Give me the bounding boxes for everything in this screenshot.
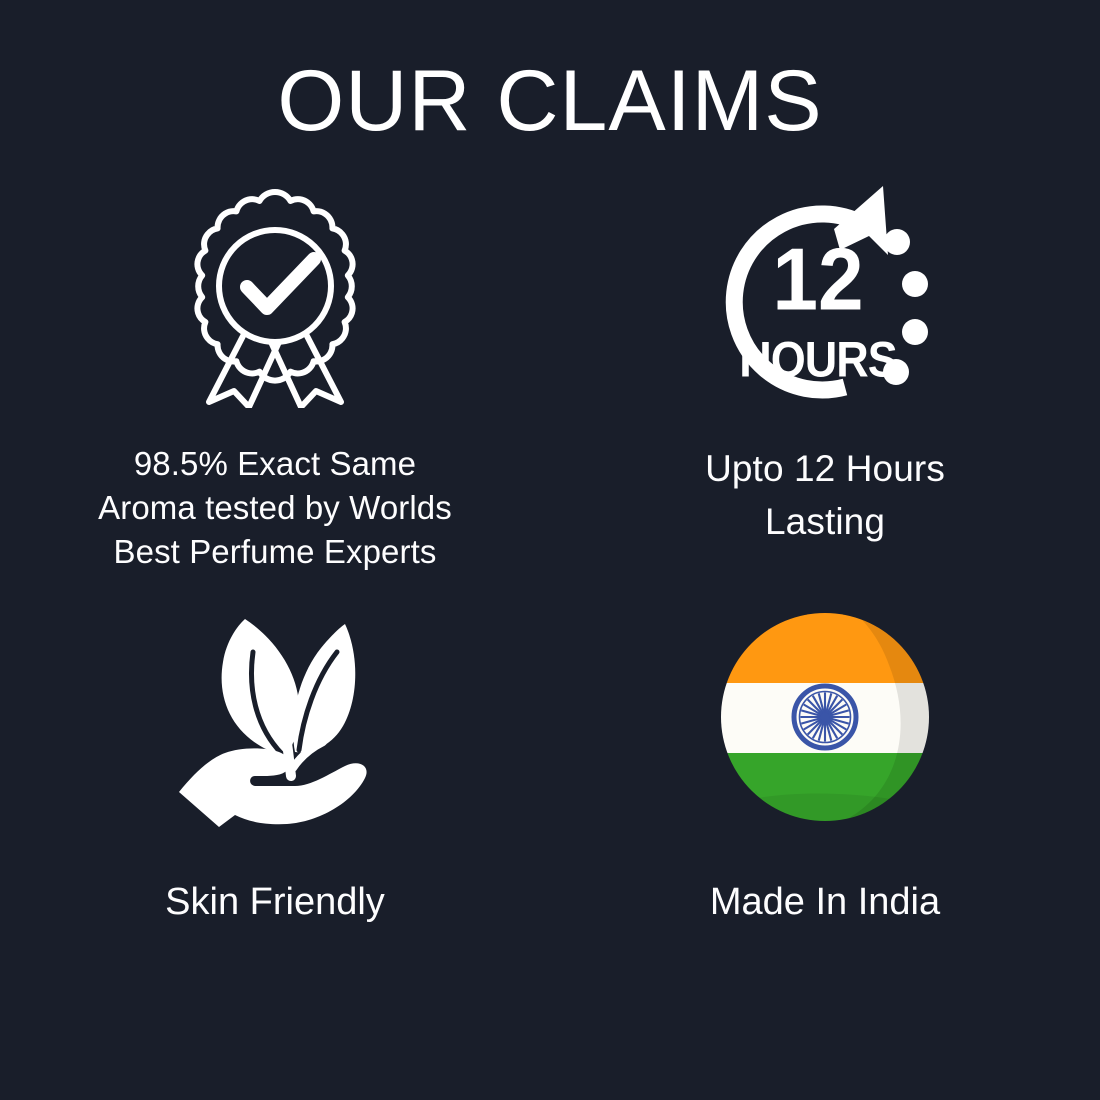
hours-unit-text: HOURS (739, 332, 896, 388)
claim-label-skin: Skin Friendly (165, 877, 385, 927)
claim-card-india: Made In India (565, 591, 1085, 1016)
claim-card-quality: 98.5% Exact Same Aroma tested by Worlds … (15, 166, 535, 591)
hand-holding-plant-icon (169, 599, 381, 835)
page-title: OUR CLAIMS (277, 0, 822, 144)
award-badge-check-icon (187, 174, 363, 414)
claim-card-skin: Skin Friendly (15, 591, 535, 1016)
claim-label-lasting: Upto 12 Hours Lasting (705, 442, 945, 548)
claim-card-lasting: 12 HOURS Upto 12 Hours Lasting (565, 166, 1085, 591)
twelve-hours-clock-arrow-icon: 12 HOURS (712, 174, 938, 412)
claim-label-india: Made In India (710, 877, 940, 927)
claims-grid: 98.5% Exact Same Aroma tested by Worlds … (0, 166, 1100, 1100)
india-flag-circle-icon (719, 599, 931, 835)
our-claims-poster: OUR CLAIMS 98.5% Exact Same Aroma tested… (0, 0, 1100, 1100)
ashoka-chakra-icon (794, 686, 856, 748)
hours-number-text: 12 (772, 230, 863, 329)
claim-label-quality: 98.5% Exact Same Aroma tested by Worlds … (98, 442, 452, 574)
